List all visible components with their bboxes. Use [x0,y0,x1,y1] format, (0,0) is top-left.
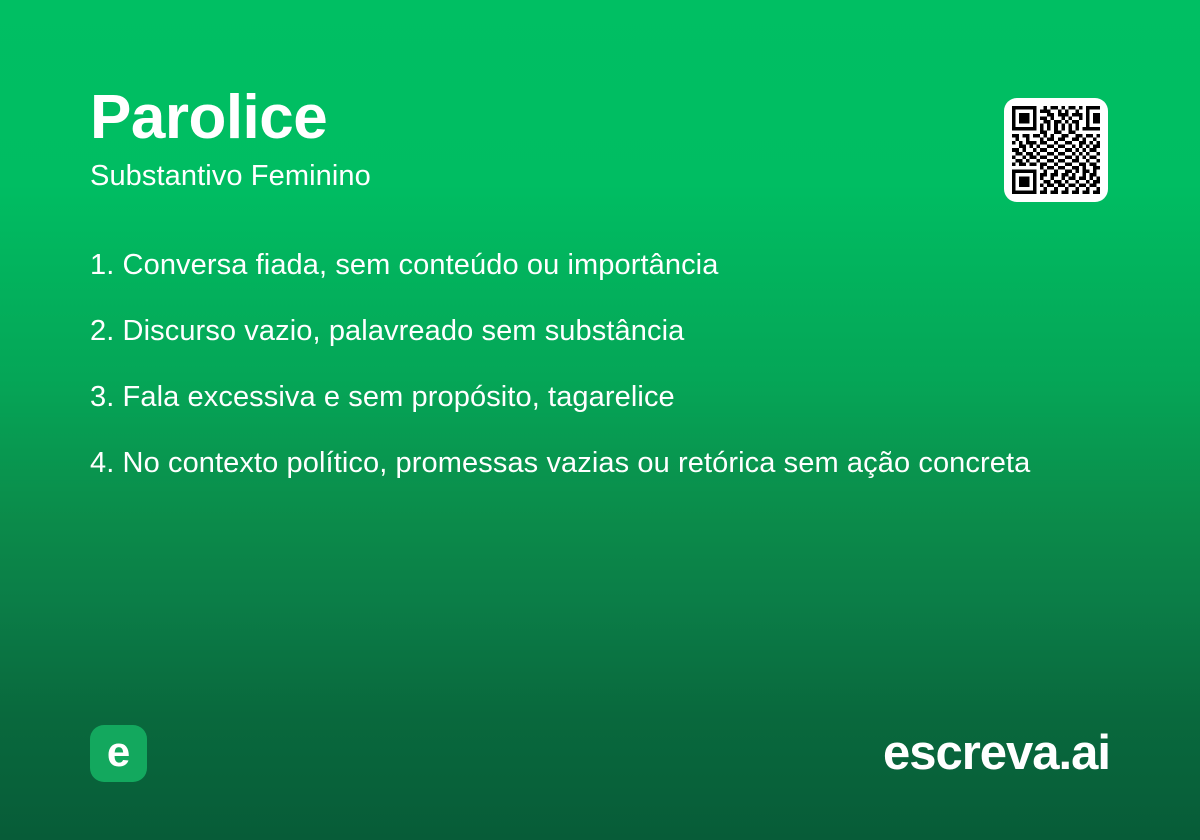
definition-item: 3. Fala excessiva e sem propósito, tagar… [90,378,1090,416]
word-class-label: Substantivo Feminino [90,161,970,193]
brand-logo-badge[interactable]: e [90,725,147,782]
page-title: Parolice [90,86,970,149]
definition-item: 2. Discurso vazio, palavreado sem substâ… [90,312,1090,350]
brand-wordmark: escreva.ai [883,723,1110,783]
definition-list: 1. Conversa fiada, sem conteúdo ou impor… [90,246,1090,482]
brand-logo-letter: e [90,725,147,782]
footer: e escreva.ai [0,725,1200,785]
qr-code-panel[interactable] [1004,98,1108,202]
qr-code-icon [1012,106,1100,194]
definition-item: 1. Conversa fiada, sem conteúdo ou impor… [90,246,1090,284]
header: Parolice Substantivo Feminino [90,86,970,193]
definition-item: 4. No contexto político, promessas vazia… [90,444,1090,482]
dictionary-card: Parolice Substantivo Feminino 1. Convers… [0,0,1200,840]
